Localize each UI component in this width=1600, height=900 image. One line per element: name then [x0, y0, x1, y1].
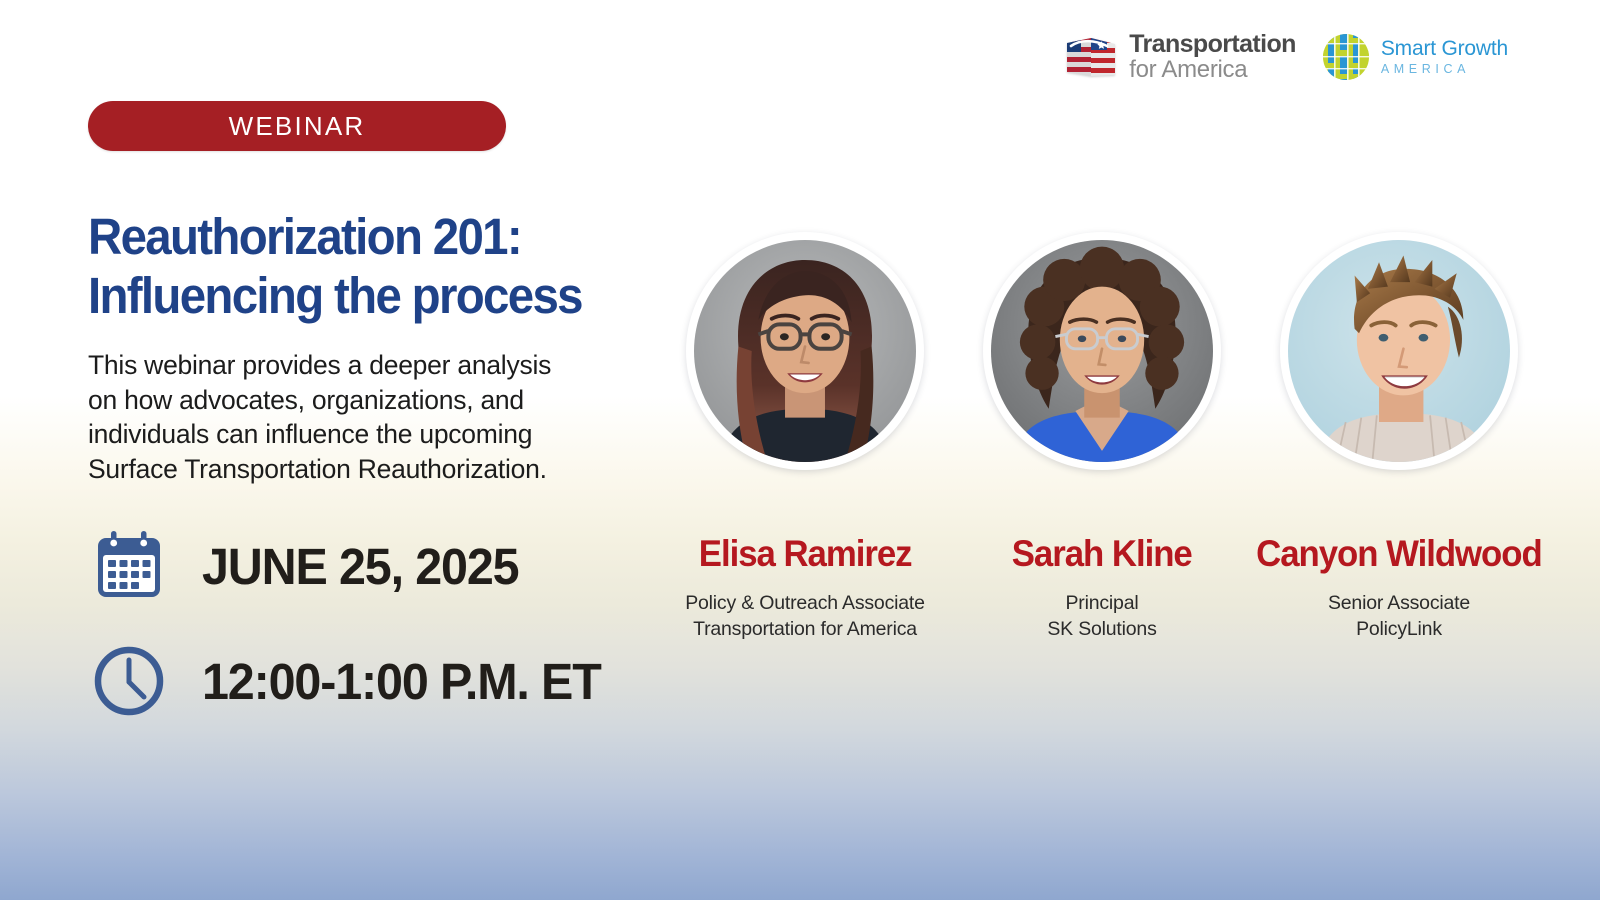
t4a-wordmark-line2: for America	[1129, 58, 1296, 82]
transportation-for-america-logo: Transportation for America	[1065, 32, 1296, 82]
speaker-role-line2: SK Solutions	[1047, 616, 1156, 642]
headshot-photo	[991, 240, 1213, 462]
speaker-name: Sarah Kline	[1012, 533, 1192, 575]
speaker-role-line1: Senior Associate	[1328, 590, 1470, 616]
description-text: This webinar provides a deeper analysis …	[88, 348, 648, 487]
speaker-card: Canyon Wildwood Senior Associate PolicyL…	[1254, 232, 1544, 643]
speaker-card: Sarah Kline Principal SK Solutions	[957, 232, 1247, 643]
event-date: JUNE 25, 2025	[202, 537, 518, 596]
woven-circle-grid-icon	[1322, 33, 1370, 81]
description-line1: This webinar provides a deeper analysis	[88, 348, 648, 383]
headshot-photo	[694, 240, 916, 462]
clock-icon	[88, 640, 170, 722]
page-title: Reauthorization 201: Influencing the pro…	[88, 207, 646, 325]
logo-bar: Transportation for America	[1065, 32, 1508, 82]
avatar	[983, 232, 1221, 470]
speaker-card: Elisa Ramirez Policy & Outreach Associat…	[660, 232, 950, 643]
speaker-role-line1: Policy & Outreach Associate	[685, 590, 925, 616]
avatar	[686, 232, 924, 470]
speaker-name: Elisa Ramirez	[699, 533, 912, 575]
description-line3: individuals can influence the upcoming	[88, 417, 648, 452]
waving-us-flag-icon	[1065, 34, 1117, 80]
speaker-role-line1: Principal	[1047, 590, 1156, 616]
description-line4: Surface Transportation Reauthorization.	[88, 452, 648, 487]
speaker-role-line2: Transportation for America	[685, 616, 925, 642]
smart-growth-america-logo: Smart Growth AMERICA	[1322, 33, 1508, 81]
webinar-badge-label: WEBINAR	[229, 111, 366, 142]
speakers-row: Elisa Ramirez Policy & Outreach Associat…	[660, 232, 1544, 643]
webinar-badge: WEBINAR	[88, 101, 506, 151]
avatar	[1280, 232, 1518, 470]
event-date-row: JUNE 25, 2025	[88, 525, 535, 607]
headshot-photo	[1288, 240, 1510, 462]
page-title-line2: Influencing the process	[88, 266, 646, 325]
page-title-line1: Reauthorization 201:	[88, 207, 646, 266]
t4a-wordmark: Transportation for America	[1129, 32, 1296, 82]
speaker-role: Senior Associate PolicyLink	[1328, 590, 1470, 643]
t4a-wordmark-line1: Transportation	[1129, 32, 1296, 57]
description-line2: on how advocates, organizations, and	[88, 383, 648, 418]
event-time-row: 12:00-1:00 P.M. ET	[88, 640, 622, 722]
sga-wordmark: Smart Growth AMERICA	[1381, 38, 1508, 76]
speaker-role: Policy & Outreach Associate Transportati…	[685, 590, 925, 643]
speaker-role-line2: PolicyLink	[1328, 616, 1470, 642]
sga-wordmark-line1: Smart Growth	[1381, 38, 1508, 60]
speaker-name: Canyon Wildwood	[1256, 533, 1542, 575]
speaker-role: Principal SK Solutions	[1047, 590, 1156, 643]
webinar-promo-poster: Transportation for America	[0, 0, 1600, 900]
event-time: 12:00-1:00 P.M. ET	[202, 652, 601, 711]
sga-wordmark-line2: AMERICA	[1381, 63, 1508, 76]
calendar-icon	[88, 525, 170, 607]
